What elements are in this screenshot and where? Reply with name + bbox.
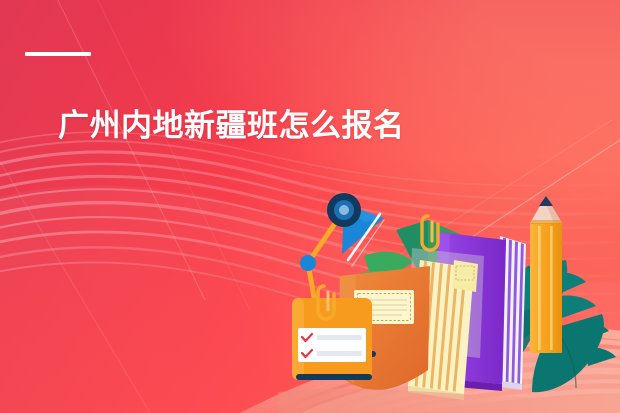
checklist-paper	[298, 328, 366, 362]
pencil	[530, 196, 562, 353]
lamp-joint	[300, 255, 316, 271]
promo-banner: 广州内地新疆班怎么报名	[0, 0, 620, 413]
school-supplies-illustration	[278, 178, 620, 413]
page-title: 广州内地新疆班怎么报名	[58, 105, 405, 147]
clipboard-checklist	[292, 286, 372, 380]
accent-dash	[25, 52, 91, 56]
